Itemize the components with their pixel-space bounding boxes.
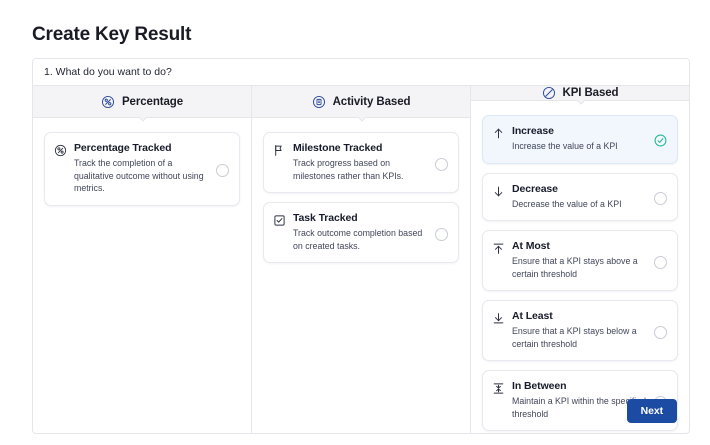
column-header-label: Activity Based <box>333 96 411 108</box>
option-description: Track progress based on milestones rathe… <box>293 157 428 182</box>
option-title: Percentage Tracked <box>74 142 209 155</box>
option-card-increase[interactable]: IncreaseIncrease the value of a KPI <box>482 115 678 164</box>
option-title: Milestone Tracked <box>293 142 428 155</box>
option-title: Decrease <box>512 183 647 196</box>
key-result-type-panel: 1. What do you want to do? PercentagePer… <box>32 58 690 434</box>
option-description: Decrease the value of a KPI <box>512 198 647 211</box>
option-radio[interactable] <box>654 256 667 269</box>
option-title: At Most <box>512 240 647 253</box>
next-button[interactable]: Next <box>627 399 677 423</box>
panel-footer: Next <box>615 389 689 433</box>
column-options-kpi-based: IncreaseIncrease the value of a KPIDecre… <box>471 101 689 434</box>
option-radio[interactable] <box>435 228 448 241</box>
arrow-down-to-bar-icon <box>492 312 505 325</box>
option-description: Ensure that a KPI stays below a certain … <box>512 325 647 350</box>
document-list-icon <box>312 95 326 109</box>
page-title: Create Key Result <box>32 24 191 46</box>
option-text: Task TrackedTrack outcome completion bas… <box>293 212 428 252</box>
arrows-between-bars-icon <box>492 382 505 395</box>
type-columns: PercentagePercentage TrackedTrack the co… <box>33 86 689 433</box>
arrow-down-icon <box>492 185 505 198</box>
option-description: Track outcome completion based on create… <box>293 227 428 252</box>
option-radio[interactable] <box>435 158 448 171</box>
type-column-activity-based: Activity BasedMilestone TrackedTrack pro… <box>251 86 470 433</box>
type-column-kpi-based: KPI BasedIncreaseIncrease the value of a… <box>470 86 689 433</box>
option-radio-checked[interactable] <box>654 134 667 147</box>
option-card-task-tracked[interactable]: Task TrackedTrack outcome completion bas… <box>263 202 459 263</box>
option-text: Percentage TrackedTrack the completion o… <box>74 142 209 195</box>
option-card-milestone-tracked[interactable]: Milestone TrackedTrack progress based on… <box>263 132 459 193</box>
option-text: DecreaseDecrease the value of a KPI <box>512 183 647 211</box>
type-column-percentage: PercentagePercentage TrackedTrack the co… <box>33 86 251 433</box>
column-header-activity-based[interactable]: Activity Based <box>252 86 470 118</box>
column-header-label: Percentage <box>122 96 183 108</box>
percent-circle-icon <box>54 144 67 157</box>
flag-icon <box>273 144 286 157</box>
option-text: Milestone TrackedTrack progress based on… <box>293 142 428 182</box>
option-card-at-most[interactable]: At MostEnsure that a KPI stays above a c… <box>482 230 678 291</box>
arrow-up-to-bar-icon <box>492 242 505 255</box>
question-row: 1. What do you want to do? <box>33 59 689 86</box>
option-card-percentage-tracked[interactable]: Percentage TrackedTrack the completion o… <box>44 132 240 206</box>
option-title: Task Tracked <box>293 212 428 225</box>
option-radio[interactable] <box>216 164 229 177</box>
option-card-at-least[interactable]: At LeastEnsure that a KPI stays below a … <box>482 300 678 361</box>
create-key-result-page: Create Key Result 1. What do you want to… <box>0 0 710 445</box>
option-description: Ensure that a KPI stays above a certain … <box>512 255 647 280</box>
option-title: At Least <box>512 310 647 323</box>
circle-slash-icon <box>542 86 556 100</box>
column-header-kpi-based[interactable]: KPI Based <box>471 86 689 101</box>
column-header-label: KPI Based <box>563 87 619 99</box>
column-header-percentage[interactable]: Percentage <box>33 86 251 118</box>
option-text: At MostEnsure that a KPI stays above a c… <box>512 240 647 280</box>
option-card-decrease[interactable]: DecreaseDecrease the value of a KPI <box>482 173 678 222</box>
option-description: Track the completion of a qualitative ou… <box>74 157 209 195</box>
option-radio[interactable] <box>654 192 667 205</box>
option-text: At LeastEnsure that a KPI stays below a … <box>512 310 647 350</box>
column-options-percentage: Percentage TrackedTrack the completion o… <box>33 118 251 433</box>
checkbox-icon <box>273 214 286 227</box>
option-radio[interactable] <box>654 326 667 339</box>
column-options-activity-based: Milestone TrackedTrack progress based on… <box>252 118 470 433</box>
option-text: IncreaseIncrease the value of a KPI <box>512 125 647 153</box>
question-label: 1. What do you want to do? <box>44 66 172 78</box>
option-title: Increase <box>512 125 647 138</box>
option-description: Increase the value of a KPI <box>512 140 647 153</box>
percent-circle-icon <box>101 95 115 109</box>
arrow-up-icon <box>492 127 505 140</box>
